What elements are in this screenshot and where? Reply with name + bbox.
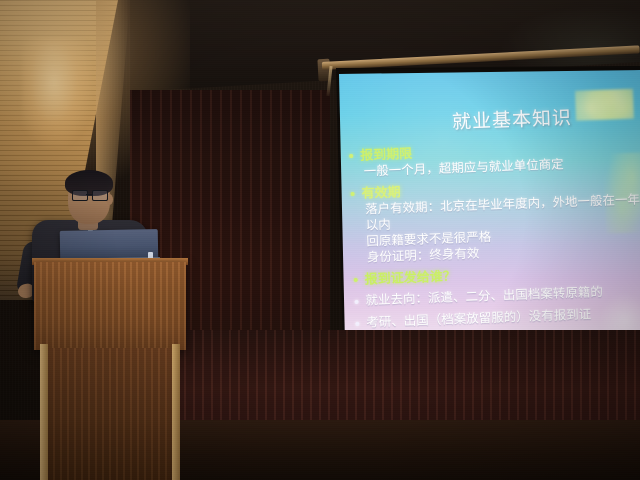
bullet-text: 考研、出国（档案放留服的）没有报到证 xyxy=(366,306,591,331)
auditorium-presentation-photo: 就业基本知识 报到期限 一般一个月，超期应与就业单位商定 有效期 落户有效期：北… xyxy=(0,0,640,480)
glasses-icon xyxy=(72,190,108,199)
lectern-trim-left xyxy=(40,344,48,480)
glasses-lens-right xyxy=(92,190,108,201)
glasses-lens-left xyxy=(72,190,88,201)
bullet-text: 有效期 xyxy=(361,183,401,201)
bullet-text: 就业去向：派遣、二分、出国档案转原籍的 xyxy=(365,284,603,310)
bullet-text: 报到证发给谁？ xyxy=(364,267,456,287)
lectern-trim-right xyxy=(172,344,180,480)
bullet-dot-icon xyxy=(355,322,359,326)
bullet-dot-icon xyxy=(354,278,358,282)
lectern-lower-body xyxy=(46,348,174,480)
wall-light-splash xyxy=(22,38,92,148)
cloud-icon xyxy=(575,89,634,121)
slide-title: 就业基本知识 xyxy=(451,103,572,134)
lectern-upper-panel: 北京理工大学 BEIJING INSTITUTE OF TECHNOLOGY xyxy=(34,262,186,350)
bullet-dot-icon xyxy=(349,154,353,158)
bullet-dot-icon xyxy=(354,300,358,304)
bullet-dot-icon xyxy=(351,192,355,196)
bullet-text: 报到期限 xyxy=(360,145,413,164)
slide-bullet-list: 报到期限 一般一个月，超期应与就业单位商定 有效期 落户有效期：北京在毕业年度内… xyxy=(349,136,640,332)
